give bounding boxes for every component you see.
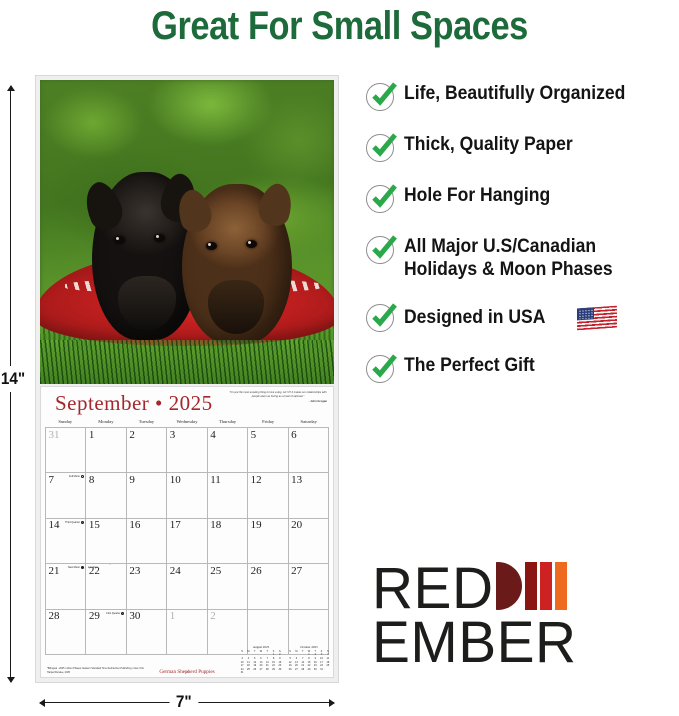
feature-item-3: All Major U.S/Canadian Holidays & Moon P…	[366, 235, 676, 281]
mini-calendar-title: October 2025	[287, 645, 331, 649]
day-number: 9	[129, 474, 135, 486]
day-number: 1	[89, 429, 95, 441]
day-number: 13	[291, 474, 302, 486]
width-dimension-label: 7"	[170, 692, 198, 712]
feature-item-4: Designed in USA	[366, 303, 676, 332]
calendar-day-cell[interactable]: 5	[248, 428, 288, 473]
calendar-day-cell[interactable]: 22Fall begins Rosh Hashanah begins at su…	[86, 564, 126, 609]
feature-label-3: All Major U.S/Canadian Holidays & Moon P…	[404, 235, 613, 281]
calendar-day-cell[interactable]: 18	[208, 519, 248, 564]
day-number: 31	[49, 429, 60, 441]
puppy-dark-eye-left	[114, 236, 125, 244]
feature-list: Life, Beautifully OrganizedThick, Qualit…	[366, 82, 676, 405]
day-number: 26	[251, 565, 262, 577]
logo-line-red: RED	[372, 562, 581, 616]
day-number: 25	[210, 565, 221, 577]
calendar-day-cell[interactable]: 24	[167, 564, 207, 609]
calendar-quote: "It's just the most amazing thing to lov…	[229, 391, 327, 404]
day-number: 19	[251, 519, 262, 531]
day-number: 10	[170, 474, 181, 486]
photo-grass-foreground	[40, 340, 334, 384]
day-number: 16	[129, 519, 140, 531]
calendar-day-cell[interactable]: 29First Quarter	[86, 610, 126, 655]
calendar-day-cell[interactable]: 27	[289, 564, 329, 609]
calendar-day-cell[interactable]: 1	[167, 610, 207, 655]
calendar-day-cell[interactable]: 8	[86, 473, 126, 518]
calendar-product: September • 2025 "It's just the most ama…	[36, 76, 338, 682]
day-number: 4	[210, 429, 216, 441]
moon-phase-icon	[81, 475, 84, 478]
puppy-dark-eye-right	[154, 234, 165, 242]
calendar-quote-text: "It's just the most amazing thing to lov…	[229, 391, 326, 398]
calendar-day-cell[interactable]: 19	[248, 519, 288, 564]
calendar-day-cell[interactable]: 20	[289, 519, 329, 564]
logo-bars	[496, 562, 567, 610]
moon-phase-text: First Quarter	[106, 612, 120, 615]
check-circle-icon	[366, 134, 394, 162]
puppy-tan-snout	[208, 280, 264, 334]
moon-phase-label: First Quarter	[102, 612, 124, 615]
weekday-sunday: Sunday	[45, 419, 86, 426]
calendar-day-cell[interactable]: 11Patriot Day	[208, 473, 248, 518]
feature-label-4: Designed in USA	[404, 306, 545, 329]
calendar-day-cell[interactable]: 9	[127, 473, 167, 518]
day-number: 2	[210, 610, 216, 622]
calendar-day-cell[interactable]: 21International Day of PeaceNew Moon	[46, 564, 86, 609]
day-number: 1	[170, 610, 176, 622]
calendar-day-cell[interactable]: 16	[127, 519, 167, 564]
calendar-day-cell[interactable]: 14Grandparent's DayThird Quarter	[46, 519, 86, 564]
puppy-tan-eye-left	[206, 242, 217, 250]
weekday-saturday: Saturday	[288, 419, 329, 426]
product-feature-page: Great For Small Spaces 14" 7"	[0, 0, 679, 716]
weekday-friday: Friday	[248, 419, 289, 426]
day-number: 21	[49, 565, 60, 577]
feature-label-1: Thick, Quality Paper	[404, 133, 573, 156]
day-number: 24	[170, 565, 181, 577]
feature-item-2: Hole For Hanging	[366, 184, 676, 213]
puppy-dark-snout	[118, 276, 176, 330]
puppy-tan	[182, 184, 292, 344]
moon-phase-label: Full Moon	[62, 475, 84, 478]
moon-phase-text: New Moon	[68, 566, 80, 569]
red-ember-logo: RED EMBER	[372, 562, 581, 669]
calendar-grid: 311Labor Day234567Full Moon891011Patriot…	[45, 427, 329, 655]
day-number: 2	[129, 429, 135, 441]
day-number: 30	[129, 610, 140, 622]
day-number: 28	[49, 610, 60, 622]
calendar-day-cell[interactable]: 4	[208, 428, 248, 473]
day-number: 27	[291, 565, 302, 577]
calendar-day-cell[interactable]: 7Full Moon	[46, 473, 86, 518]
moon-phase-icon	[81, 521, 84, 524]
feature-item-5: The Perfect Gift	[366, 354, 676, 383]
page-title: Great For Small Spaces	[48, 4, 632, 49]
day-number: 14	[49, 519, 60, 531]
calendar-page: September • 2025 "It's just the most ama…	[40, 386, 334, 678]
calendar-day-cell[interactable]: 12	[248, 473, 288, 518]
puppy-tan-eye-right	[246, 240, 257, 248]
day-number: 17	[170, 519, 181, 531]
logo-word-red: RED	[372, 562, 493, 615]
logo-word-ember: EMBER	[372, 616, 577, 669]
moon-phase-text: Third Quarter	[65, 521, 80, 524]
logo-bar-4	[555, 562, 567, 610]
check-circle-icon	[366, 236, 394, 264]
usa-flag-icon	[577, 305, 617, 330]
weekday-tuesday: Tuesday	[126, 419, 167, 426]
calendar-month-title: September • 2025	[55, 391, 213, 416]
calendar-day-cell[interactable]: 13	[289, 473, 329, 518]
day-number: 6	[291, 429, 297, 441]
calendar-weekday-header: SundayMondayTuesdayWednesdayThursdayFrid…	[45, 419, 329, 426]
check-circle-icon	[366, 304, 394, 332]
day-number: 3	[170, 429, 176, 441]
feature-label-0: Life, Beautifully Organized	[404, 82, 625, 105]
calendar-day-cell[interactable]: 31	[46, 428, 86, 473]
logo-arc-bar	[496, 562, 522, 610]
day-number: 11	[210, 474, 221, 486]
day-number: 7	[49, 474, 55, 486]
day-number: 15	[89, 519, 100, 531]
calendar-day-cell[interactable]: 28	[46, 610, 86, 655]
day-number: 29	[89, 610, 100, 622]
day-number: 8	[89, 474, 95, 486]
moon-phase-label: Third Quarter	[62, 521, 84, 524]
weekday-thursday: Thursday	[207, 419, 248, 426]
calendar-day-cell[interactable]: 6	[289, 428, 329, 473]
day-event-label: Fall begins Rosh Hashanah begins at sund…	[88, 564, 124, 569]
calendar-photo	[40, 80, 334, 384]
check-circle-icon	[366, 185, 394, 213]
calendar-day-cell[interactable]: 23	[127, 564, 167, 609]
day-number: 18	[210, 519, 221, 531]
weekday-monday: Monday	[86, 419, 127, 426]
calendar-day-cell[interactable]: 3	[167, 428, 207, 473]
day-number: 12	[251, 474, 262, 486]
feature-label-5: The Perfect Gift	[404, 354, 535, 377]
moon-phase-label: New Moon	[62, 566, 84, 569]
calendar-day-cell[interactable]: 30	[127, 610, 167, 655]
calendar-quote-author: - John Grogan	[229, 400, 327, 404]
calendar-day-cell[interactable]: 1Labor Day	[86, 428, 126, 473]
logo-bar-2	[525, 562, 537, 610]
feature-label-2: Hole For Hanging	[404, 184, 550, 207]
height-dimension-label: 14"	[0, 366, 26, 392]
day-number: 20	[291, 519, 302, 531]
calendar-day-cell[interactable]: 17	[167, 519, 207, 564]
weekday-wednesday: Wednesday	[167, 419, 208, 426]
feature-item-1: Thick, Quality Paper	[366, 133, 676, 162]
day-number: 23	[129, 565, 140, 577]
moon-phase-icon	[81, 566, 84, 569]
calendar-day-cell[interactable]: 15	[86, 519, 126, 564]
day-number: 5	[251, 429, 257, 441]
calendar-caption: German Shepherd Puppies	[41, 669, 333, 675]
feature-item-0: Life, Beautifully Organized	[366, 82, 676, 111]
moon-phase-icon	[121, 612, 124, 615]
calendar-day-cell[interactable]: 25	[208, 564, 248, 609]
check-circle-icon	[366, 83, 394, 111]
calendar-day-cell[interactable]: 26	[248, 564, 288, 609]
mini-calendar-title: August 2025	[239, 645, 283, 649]
check-circle-icon	[366, 355, 394, 383]
calendar-day-cell[interactable]: 10	[167, 473, 207, 518]
logo-bar-3	[540, 562, 552, 610]
moon-phase-text: Full Moon	[69, 476, 80, 479]
calendar-day-cell[interactable]: 2	[127, 428, 167, 473]
